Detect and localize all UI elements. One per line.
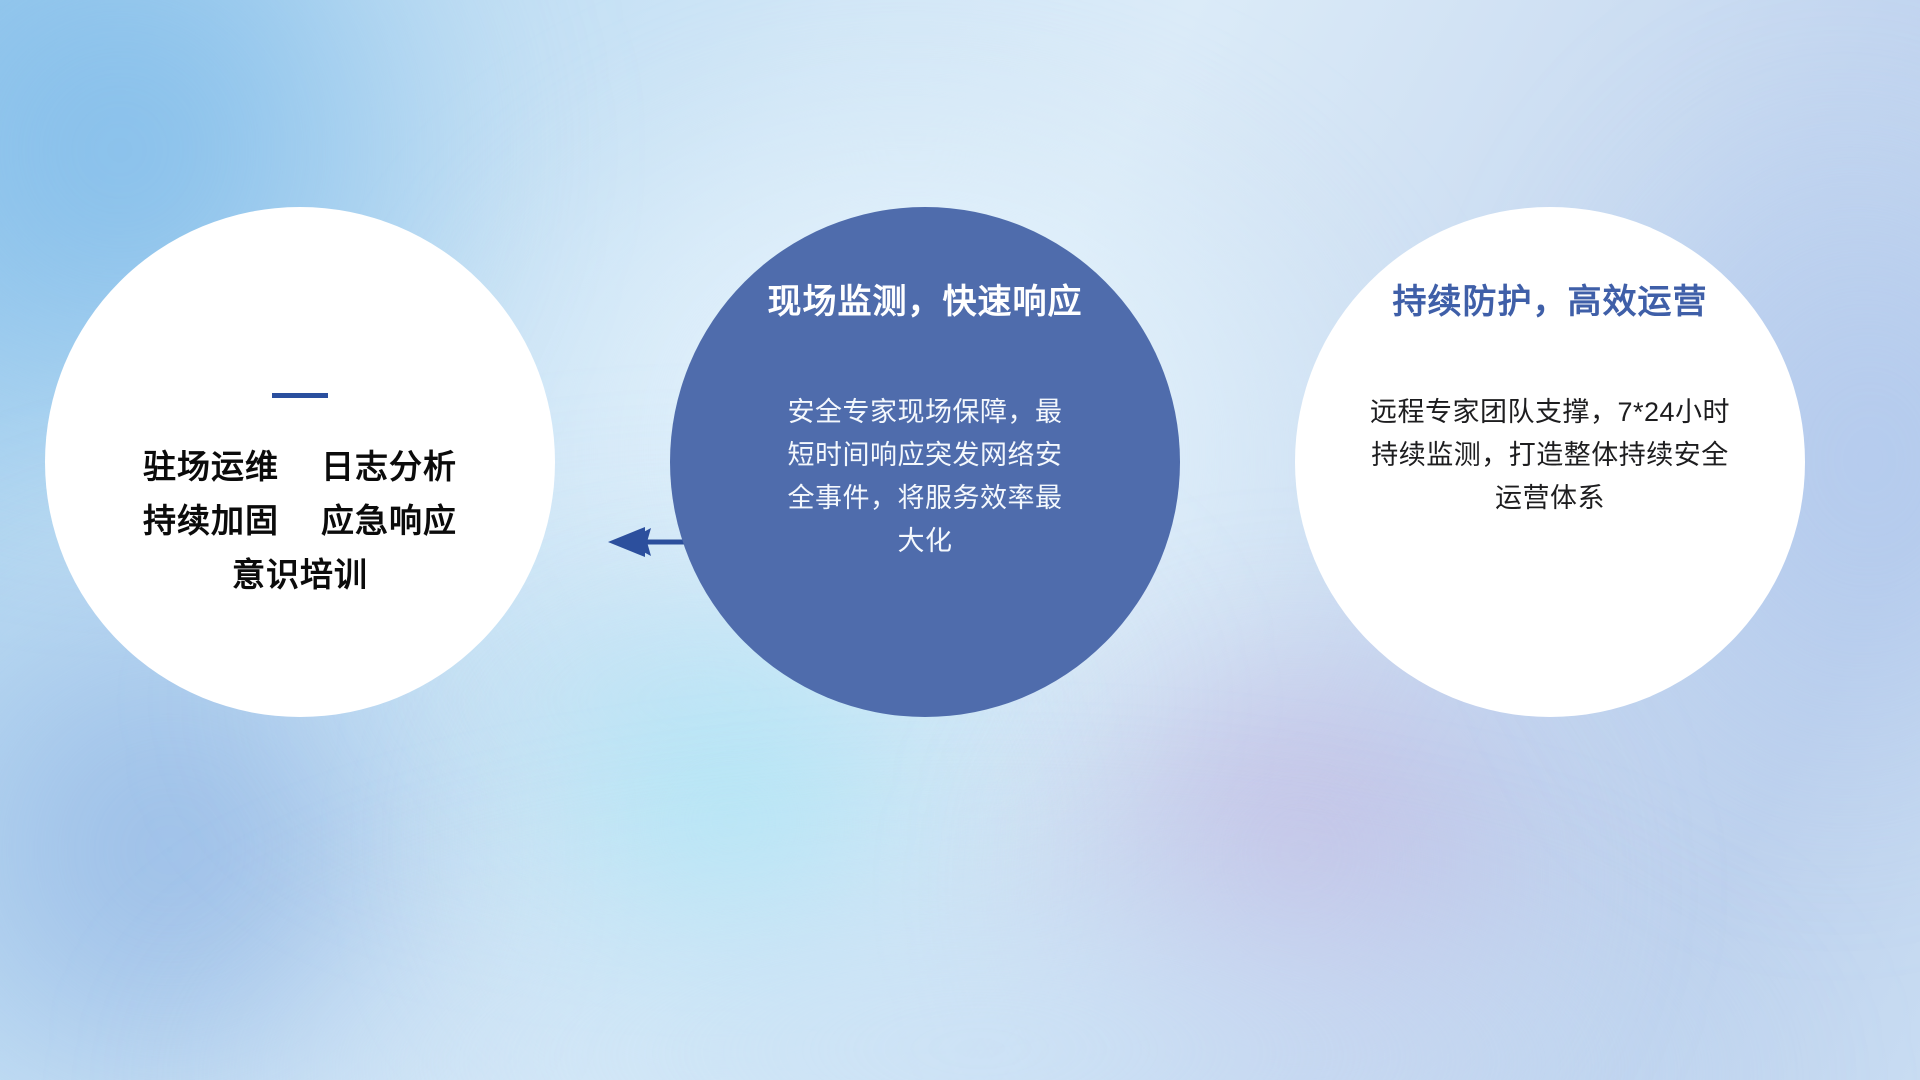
capabilities-circle[interactable]: 驻场运维 日志分析 持续加固 应急响应 意识培训 [45, 207, 555, 717]
capability-tag[interactable]: 应急响应 [321, 504, 457, 537]
accent-dash [272, 393, 328, 398]
capability-rows: 驻场运维 日志分析 持续加固 应急响应 意识培训 [143, 450, 457, 591]
capabilities-content: 驻场运维 日志分析 持续加固 应急响应 意识培训 [45, 393, 555, 591]
capability-row: 持续加固 应急响应 [143, 504, 457, 537]
continuous-protection-title: 持续防护，高效运营 [1393, 285, 1708, 319]
continuous-protection-body: 远程专家团队支撑，7*24小时持续监测，打造整体持续安全运营体系 [1362, 391, 1738, 520]
capability-row: 意识培训 [232, 558, 368, 591]
continuous-protection-circle[interactable]: 持续防护，高效运营 远程专家团队支撑，7*24小时持续监测，打造整体持续安全运营… [1295, 207, 1805, 717]
onsite-monitoring-body: 安全专家现场保障，最短时间响应突发网络安全事件，将服务效率最大化 [775, 391, 1075, 563]
onsite-monitoring-content: 现场监测，快速响应 安全专家现场保障，最短时间响应突发网络安全事件，将服务效率最… [684, 285, 1166, 563]
capability-tag[interactable]: 驻场运维 [143, 450, 279, 483]
capability-tag[interactable]: 持续加固 [143, 504, 279, 537]
continuous-protection-content: 持续防护，高效运营 远程专家团队支撑，7*24小时持续监测，打造整体持续安全运营… [1315, 285, 1785, 520]
capability-row: 驻场运维 日志分析 [143, 450, 457, 483]
diagram-stage: 驻场运维 日志分析 持续加固 应急响应 意识培训 现场监测，快速响应 安全专家现… [0, 0, 1920, 1080]
onsite-monitoring-circle[interactable]: 现场监测，快速响应 安全专家现场保障，最短时间响应突发网络安全事件，将服务效率最… [670, 207, 1180, 717]
capability-tag[interactable]: 意识培训 [232, 558, 368, 591]
onsite-monitoring-title: 现场监测，快速响应 [768, 285, 1083, 319]
capability-tag[interactable]: 日志分析 [321, 450, 457, 483]
